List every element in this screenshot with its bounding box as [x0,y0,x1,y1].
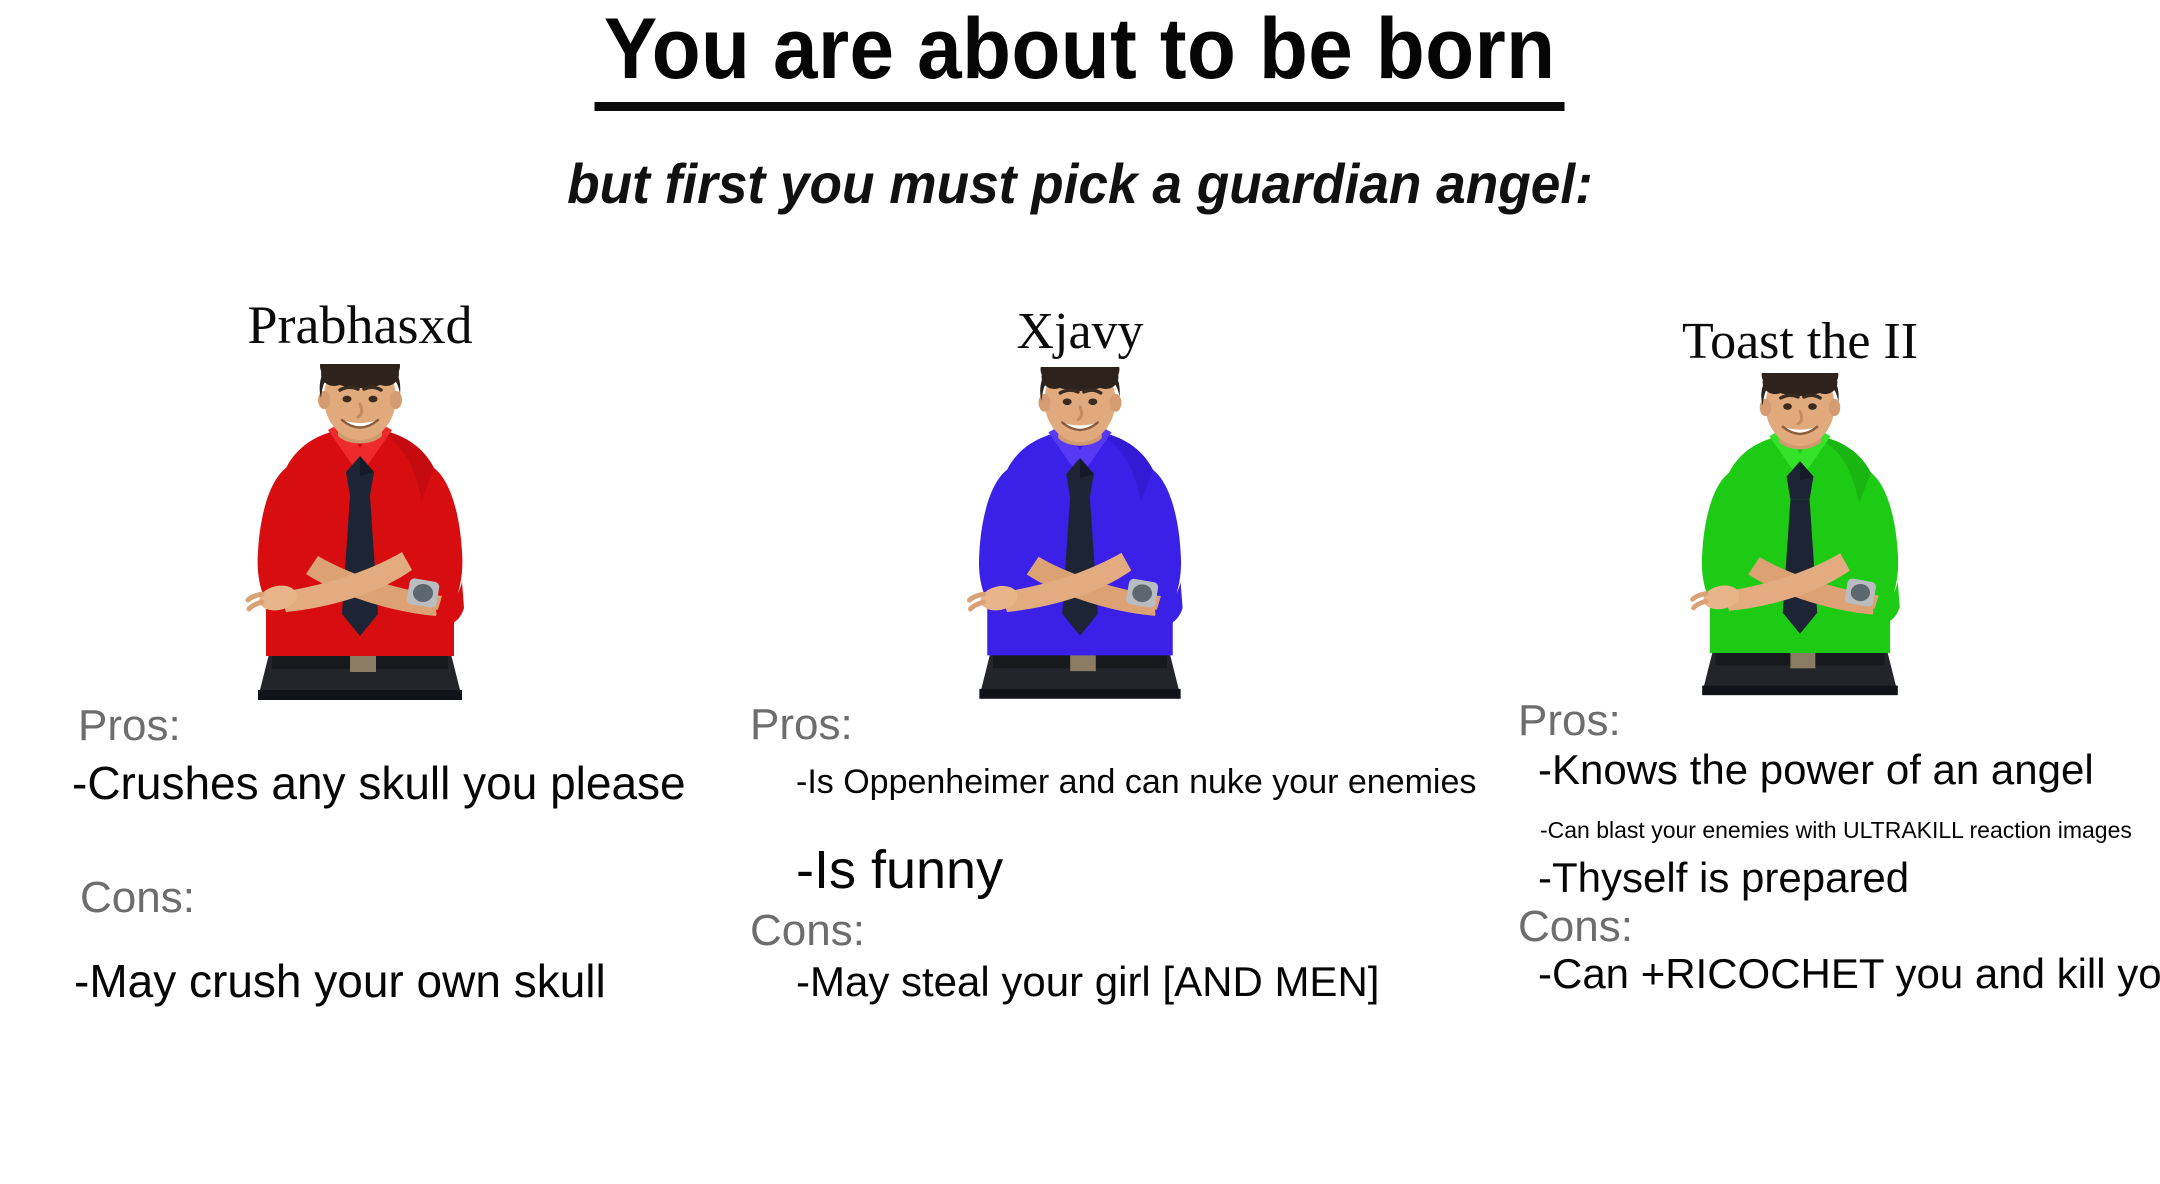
cons-label: Cons: [750,909,865,953]
pros-label: Pros: [1518,699,1621,743]
smiling-man-arms-crossed-icon [932,367,1228,703]
pros-item: -Can blast your enemies with ULTRAKILL r… [1540,819,2132,842]
option-3-name: Toast the II [1440,290,2160,371]
cons-label: Cons: [80,876,195,920]
option-card-1[interactable]: Prabhasxd [0,290,720,1184]
option-card-2[interactable]: Xjavy [720,290,1440,1184]
guardian-angel-options: Prabhasxd [0,290,2160,1184]
option-card-3[interactable]: Toast the II [1440,290,2160,1184]
cons-label: Cons: [1518,905,1633,949]
cons-item: -Can +RICOCHET you and kill you [1538,953,2160,996]
option-2-figure [720,367,1440,703]
smiling-man-arms-crossed-icon [1655,373,1945,699]
pros-item: -Knows the power of an angel [1538,749,2094,792]
pros-item: -Crushes any skull you please [72,760,686,807]
pros-label: Pros: [78,704,181,748]
page-title: You are about to be born [595,6,1565,111]
cons-item: -May steal your girl [AND MEN] [796,961,1379,1004]
option-2-name: Xjavy [720,290,1440,361]
pros-label: Pros: [750,703,853,747]
meme-header: You are about to be born but first you m… [0,0,2160,214]
cons-item: -May crush your own skull [74,958,606,1005]
option-1-name: Prabhasxd [0,290,720,356]
pros-item: -Is funny [796,843,1003,898]
pros-item: -Thyself is prepared [1538,857,1909,900]
option-3-figure [1440,373,2160,699]
smiling-man-arms-crossed-icon [210,364,510,704]
option-1-figure [0,364,720,704]
pros-item: -Is Oppenheimer and can nuke your enemie… [796,765,1476,800]
page-subtitle: but first you must pick a guardian angel… [54,155,2106,214]
